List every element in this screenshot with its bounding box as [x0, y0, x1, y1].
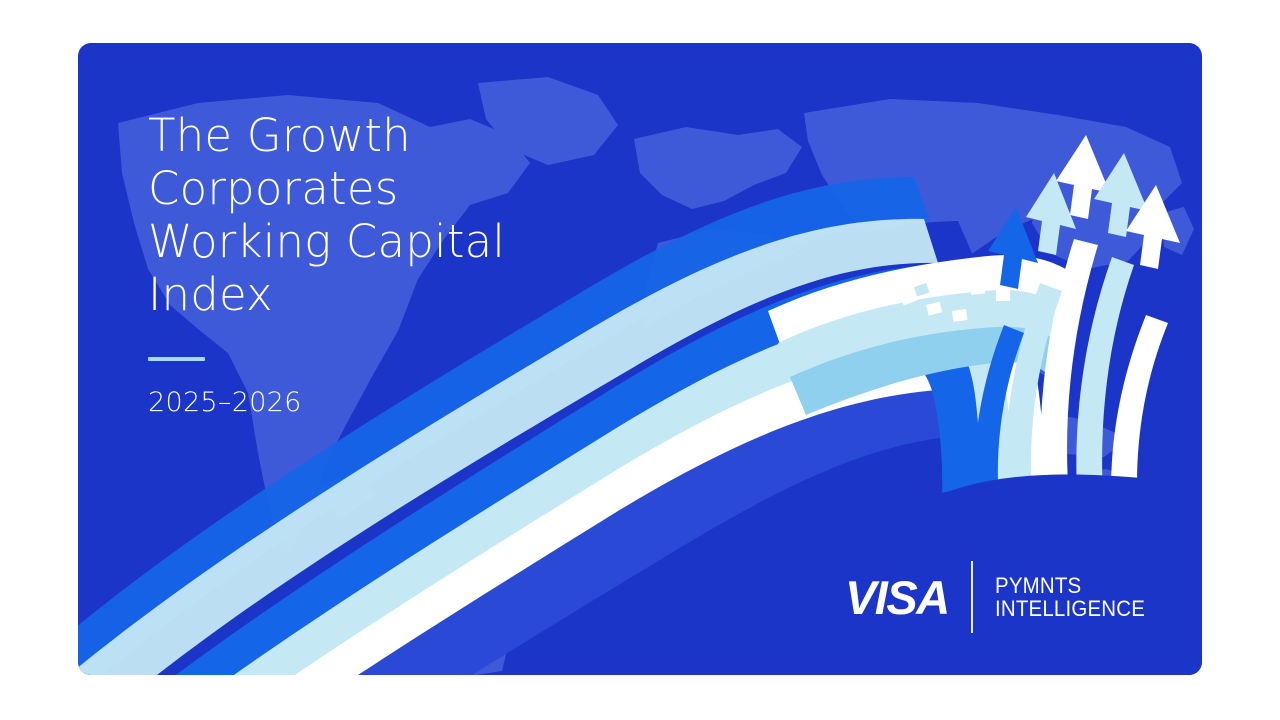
pymnts-intelligence-logo: PYMNTS INTELLIGENCE: [995, 574, 1145, 620]
pymnts-logo-line2: INTELLIGENCE: [995, 597, 1145, 620]
lockup-divider: [971, 561, 973, 633]
screenshot-root: The Growth Corporates Working Capital In…: [0, 0, 1280, 720]
page-title: The Growth Corporates Working Capital In…: [148, 109, 568, 321]
cover-title-block: The Growth Corporates Working Capital In…: [148, 109, 568, 419]
pymnts-logo-line1: PYMNTS: [995, 574, 1145, 597]
logo-lockup: VISA PYMNTS INTELLIGENCE: [845, 561, 1156, 633]
visa-logo: VISA: [845, 574, 949, 621]
cover-date-range: 2025–2026: [148, 387, 568, 419]
accent-rule: [148, 357, 205, 361]
report-cover-card: The Growth Corporates Working Capital In…: [78, 43, 1202, 675]
